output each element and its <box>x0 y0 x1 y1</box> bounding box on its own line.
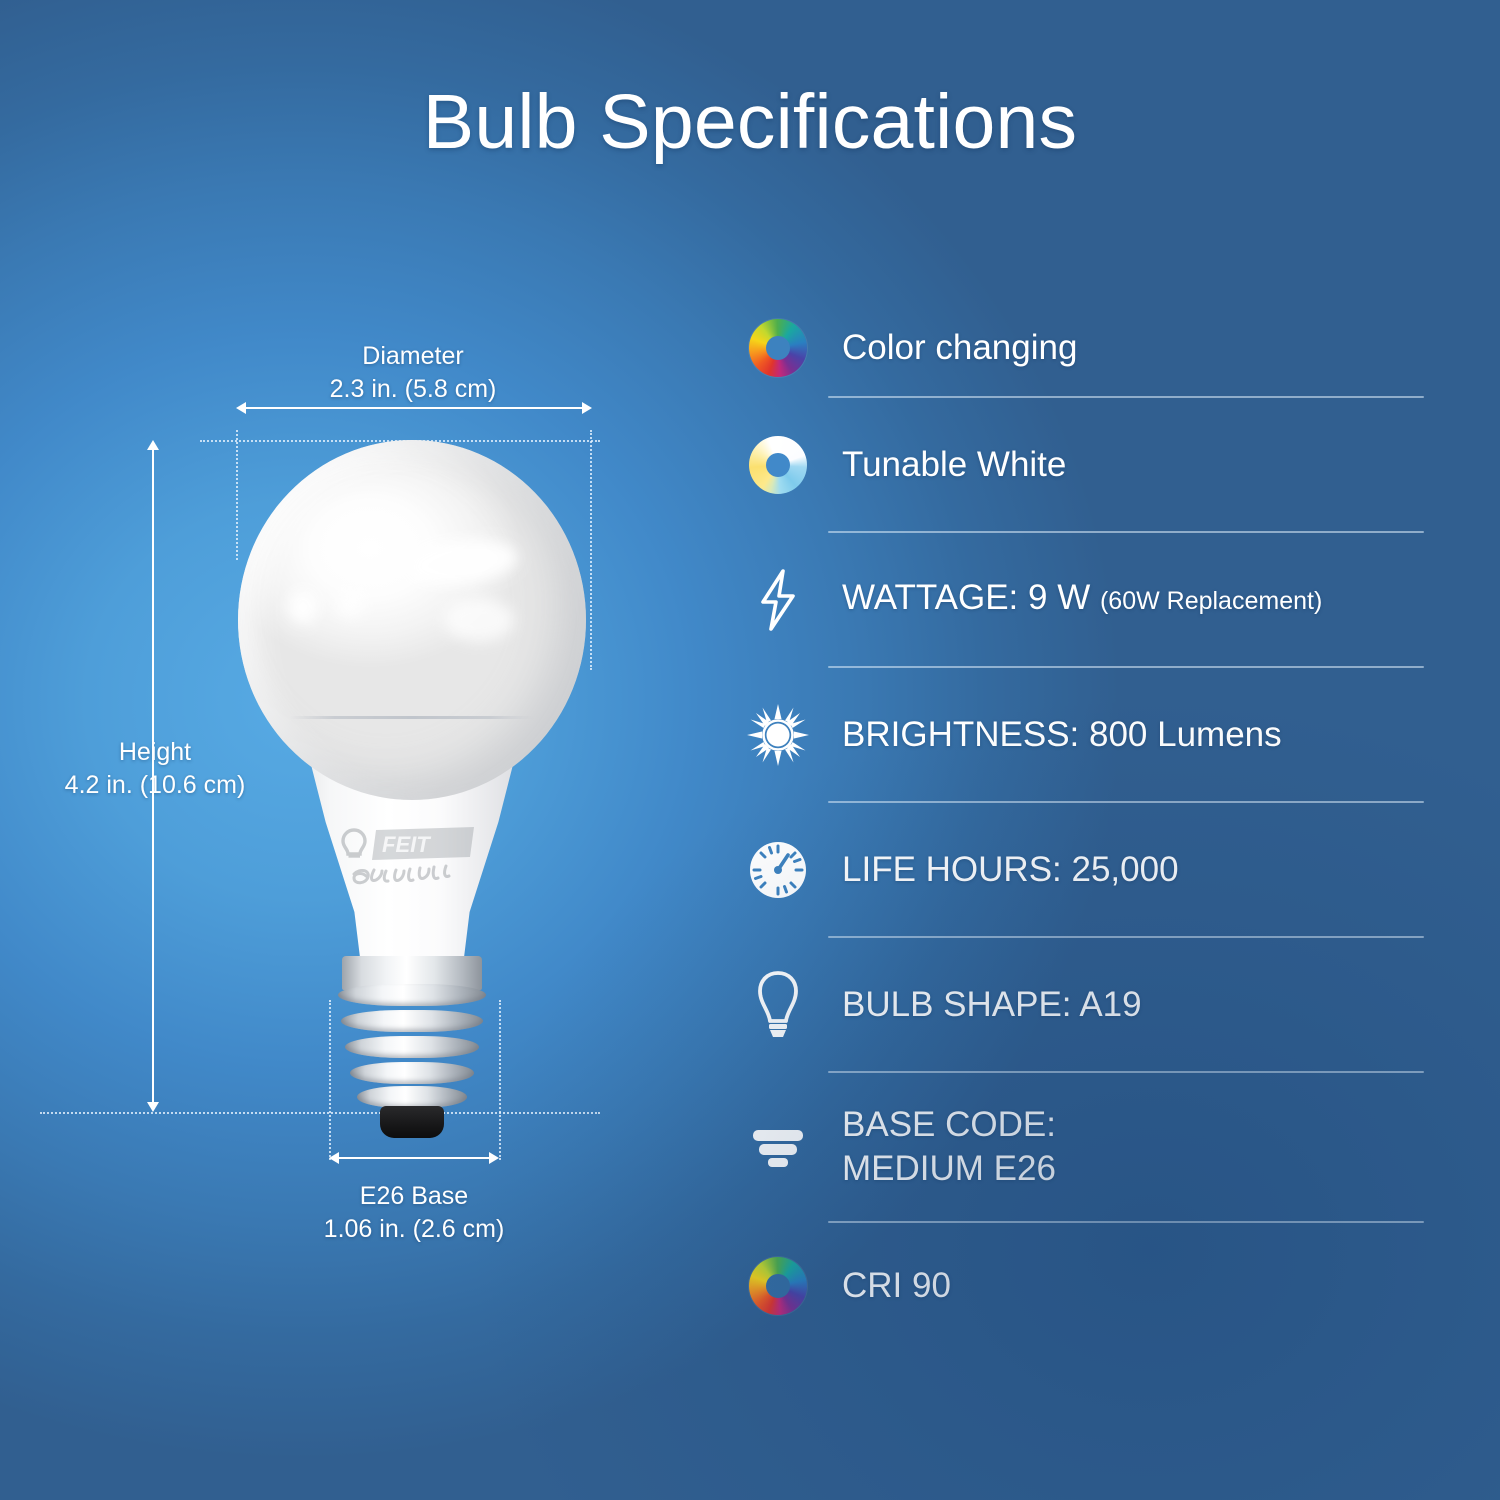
base-thread <box>350 1062 474 1084</box>
svg-text:FEIT: FEIT <box>382 832 431 857</box>
base-thread <box>357 1086 467 1108</box>
spec-label-main: WATTAGE: 9 W <box>842 578 1090 617</box>
bulb-highlight <box>336 592 364 618</box>
icon-cell <box>714 1118 842 1176</box>
color-wheel-icon <box>749 319 807 377</box>
arrow-tip-right <box>489 1152 499 1164</box>
spec-label-sub: (60W Replacement) <box>1100 587 1322 615</box>
icon-cell <box>714 1257 842 1315</box>
icon-cell <box>714 702 842 768</box>
arrow-bar <box>336 1157 492 1159</box>
arrow-bar <box>152 447 154 1105</box>
spec-label-line1: BASE CODE: <box>842 1105 1056 1144</box>
diameter-label-name: Diameter <box>362 342 463 370</box>
base-thread <box>338 984 486 1006</box>
diameter-arrow <box>236 402 592 414</box>
bulb-dimension-diagram: Diameter 2.3 in. (5.8 cm) Height 4.2 in.… <box>0 0 700 1500</box>
clock-gauge-icon <box>748 840 808 900</box>
base-label-name: E26 Base <box>360 1182 468 1210</box>
spec-label: LIFE HOURS: 25,000 <box>842 848 1179 892</box>
base-arrow <box>329 1152 499 1164</box>
feit-electric-logo: FEIT <box>336 822 486 904</box>
base-label-value: 1.06 in. (2.6 cm) <box>324 1215 505 1243</box>
spec-label: BULB SHAPE: A19 <box>842 983 1142 1027</box>
bulb-seam <box>290 716 534 719</box>
arrow-bar <box>243 407 585 409</box>
specification-list: Color changing Tunable White WATTAGE: 9 … <box>714 300 1424 1349</box>
bulb-highlight <box>444 598 514 642</box>
infographic-canvas: Bulb Specifications Diameter 2.3 in. (5.… <box>0 0 1500 1500</box>
bulb-e26-base <box>328 956 496 1138</box>
icon-cell <box>714 436 842 494</box>
icon-cell <box>714 840 842 900</box>
base-contact-tip <box>380 1106 444 1138</box>
lightning-bolt-icon <box>753 568 803 632</box>
diameter-label: Diameter 2.3 in. (5.8 cm) <box>233 340 593 406</box>
spec-label: BASE CODE: MEDIUM E26 <box>842 1103 1056 1191</box>
sun-icon <box>745 702 811 768</box>
base-thread <box>341 1010 483 1032</box>
spec-label: Color changing <box>842 326 1077 370</box>
diameter-label-value: 2.3 in. (5.8 cm) <box>330 375 497 403</box>
spec-label: WATTAGE: 9 W (60W Replacement) <box>842 576 1322 623</box>
base-label: E26 Base 1.06 in. (2.6 cm) <box>274 1180 554 1246</box>
bulb-highlight <box>288 590 318 624</box>
spec-label: BRIGHTNESS: 800 Lumens <box>842 713 1282 757</box>
spec-row-life-hours: LIFE HOURS: 25,000 <box>714 803 1424 936</box>
tunable-white-icon <box>749 436 807 494</box>
base-thread <box>345 1036 479 1058</box>
height-arrow <box>147 440 159 1112</box>
screw-base-icon <box>749 1118 807 1176</box>
spec-row-brightness: BRIGHTNESS: 800 Lumens <box>714 668 1424 801</box>
spec-row-bulb-shape: BULB SHAPE: A19 <box>714 938 1424 1071</box>
spec-row-wattage: WATTAGE: 9 W (60W Replacement) <box>714 533 1424 666</box>
spec-label: Tunable White <box>842 443 1066 487</box>
icon-cell <box>714 319 842 377</box>
spec-label: CRI 90 <box>842 1264 951 1308</box>
color-wheel-icon <box>749 1257 807 1315</box>
spec-row-tunable-white: Tunable White <box>714 398 1424 531</box>
bulb-illustration: FEIT <box>232 440 592 1130</box>
arrow-tip-bottom <box>147 1102 159 1112</box>
spec-row-color-changing: Color changing <box>714 300 1424 396</box>
spec-label-line2: MEDIUM E26 <box>842 1149 1056 1188</box>
bulb-globe <box>238 440 586 800</box>
spec-row-cri: CRI 90 <box>714 1223 1424 1349</box>
arrow-tip-right <box>582 402 592 414</box>
icon-cell <box>714 969 842 1041</box>
icon-cell <box>714 568 842 632</box>
bulb-outline-icon <box>754 969 802 1041</box>
spec-row-base-code: BASE CODE: MEDIUM E26 <box>714 1073 1424 1221</box>
